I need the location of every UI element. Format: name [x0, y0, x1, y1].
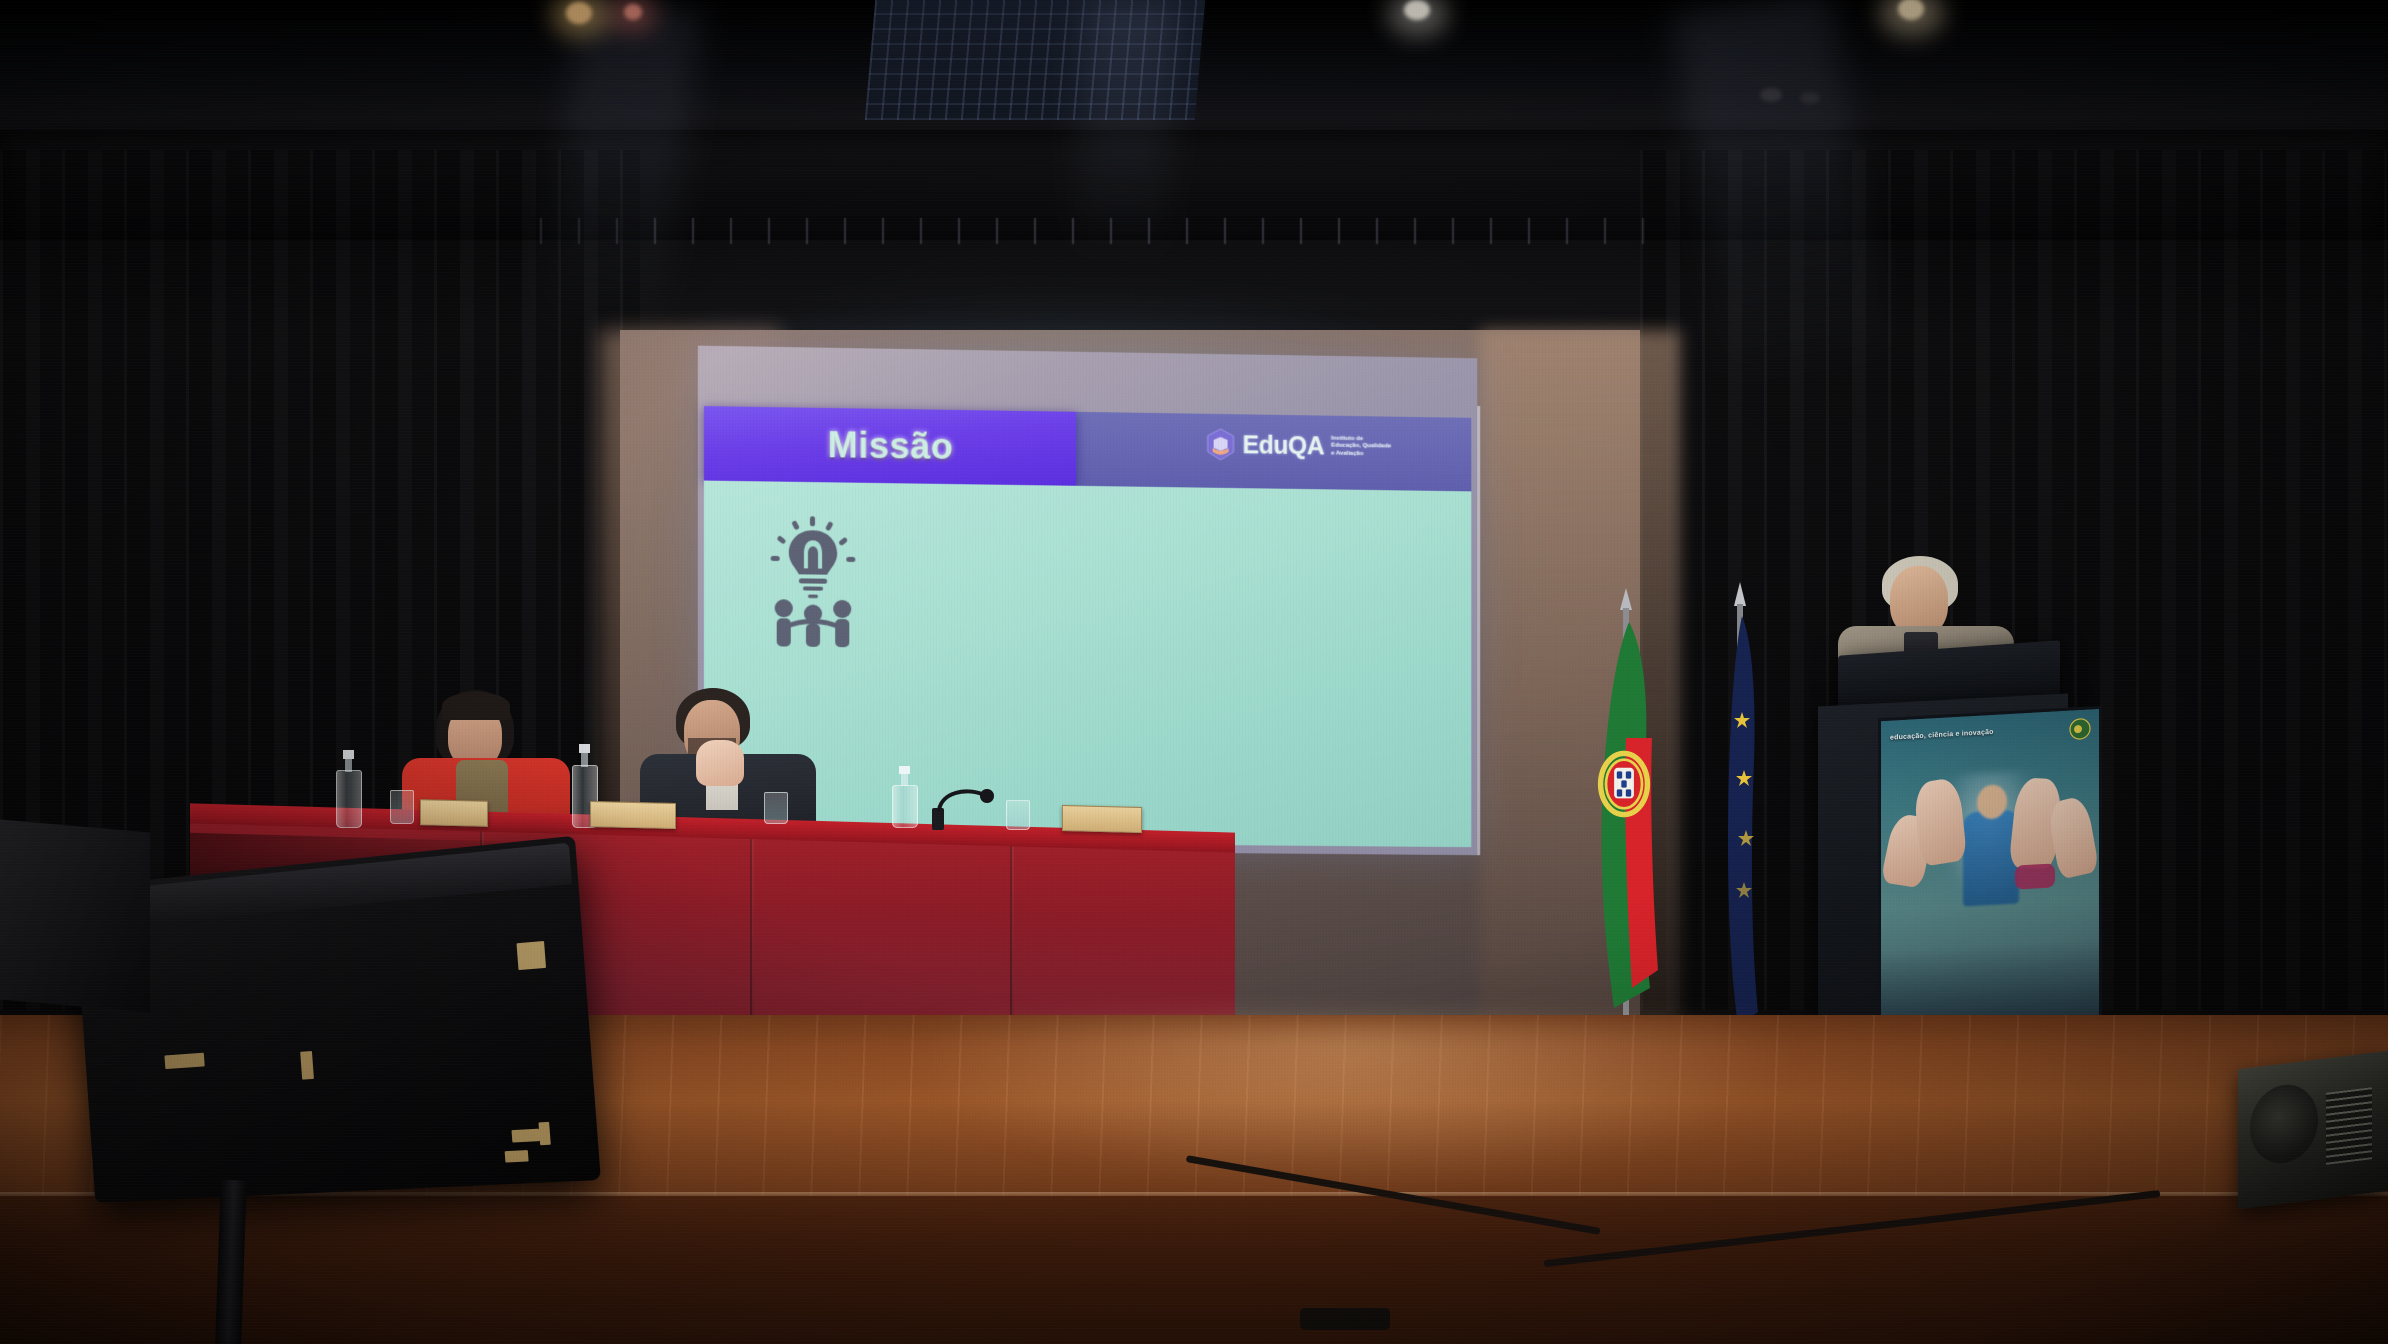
drinking-glass-icon [764, 792, 788, 824]
name-card-icon [420, 799, 488, 827]
hair-front [442, 692, 510, 720]
stage-lamp-icon [1760, 88, 1782, 102]
floor-reflection [900, 1020, 1800, 1190]
speaker-grille-icon [2326, 1087, 2372, 1165]
stage-lamp-icon [1404, 0, 1430, 20]
lightbulb-over-three-people-icon [763, 516, 864, 648]
eu-flag-icon [1700, 582, 1780, 1032]
slide-title-banner: Missão [704, 406, 1076, 486]
stage-front-lip [0, 1196, 2388, 1344]
cable-icon [1300, 1308, 1390, 1330]
stage-lamp-icon [566, 2, 592, 24]
book-hexagon-icon [1206, 428, 1236, 462]
stage-photo-scene: Missão EduQA Instituto de Educação, Qual… [0, 0, 2388, 1344]
monitor-label-sticker [505, 1150, 529, 1163]
page-title: Missão [828, 424, 954, 468]
stage-lamp-icon [624, 4, 642, 20]
drinking-glass-icon [1006, 800, 1030, 830]
light-beam [1073, 0, 1176, 262]
drinking-glass-icon [390, 790, 414, 824]
gooseneck-microphone-icon [932, 782, 1004, 830]
monitor-label-sticker [538, 1122, 550, 1145]
screen-right-edge [1477, 406, 1480, 855]
eduqa-logo-text: EduQA [1242, 431, 1324, 461]
name-card-icon [590, 801, 676, 829]
water-bottle-icon [336, 750, 360, 826]
eduqa-logo: EduQA Instituto de Educação, Qualidade e… [1206, 428, 1393, 465]
clasped-hands [696, 740, 744, 786]
monitor-vesa-plate [517, 941, 547, 970]
name-card-icon [1062, 805, 1142, 833]
side-speaker [0, 819, 150, 1012]
foreground-confidence-monitor [74, 836, 601, 1203]
monitor-label-sticker [511, 1129, 539, 1143]
stage-lamp-icon [1800, 92, 1820, 104]
slide-header-bar: Missão EduQA Instituto de Educação, Qual… [704, 406, 1471, 491]
water-bottle-icon [892, 766, 916, 826]
portugal-flag-icon [2069, 717, 2091, 740]
portugal-flag-icon [1580, 588, 1672, 1028]
monitor-label-sticker [164, 1053, 204, 1069]
monitor-label-sticker [300, 1051, 314, 1080]
eduqa-logo-tagline: Instituto de Educação, Qualidade e Avali… [1331, 435, 1392, 458]
